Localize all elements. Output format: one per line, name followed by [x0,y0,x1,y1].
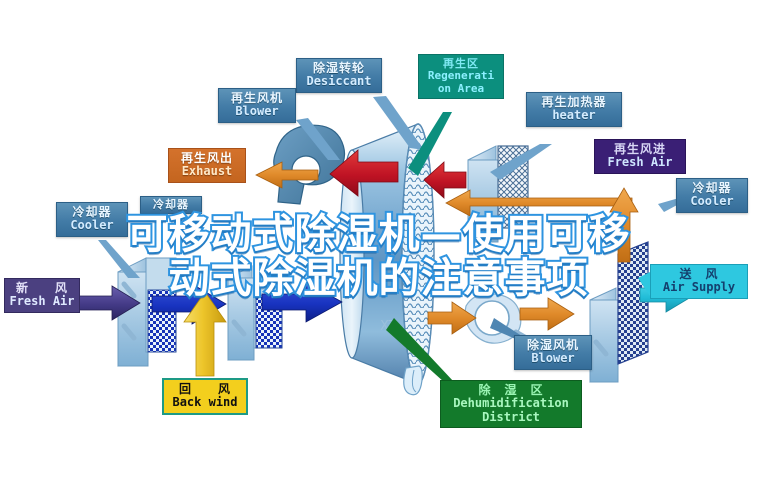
label-regeneration-blower-cn: 再生风机 [223,92,291,105]
label-back-wind-cn: 回 风 [168,383,242,396]
label-fresh-air: 新 风 Fresh Air [4,278,80,313]
label-cooler-left-1: 冷却器 Cooler [56,202,128,237]
label-regeneration-fresh-air: 再生风进 Fresh Air [594,139,686,174]
label-regeneration-heater: 再生加热器 heater [526,92,622,127]
label-desiccant: 除湿转轮 Desiccant [296,58,382,93]
label-dehumidification-district-en1: Dehumidification [445,397,577,410]
label-cooler-right: 冷却器 Cooler [676,178,748,213]
label-regeneration-blower-en: Blower [223,105,291,118]
regeneration-blower [274,125,345,204]
label-desiccant-cn: 除湿转轮 [301,62,377,75]
label-dehumidification-blower: 除湿风机 Blower [514,335,592,370]
label-air-supply-en: Air Supply [655,281,743,294]
label-desiccant-en: Desiccant [301,75,377,88]
cooler-module-left-2 [228,266,282,360]
label-regeneration-area: 再生区 Regenerati on Area [418,54,504,99]
label-fresh-air-cn: 新 风 [9,282,75,295]
label-regeneration-heater-en: heater [531,109,617,122]
label-back-wind: 回 风 Back wind [162,378,248,415]
label-dehumidification-blower-cn: 除湿风机 [519,339,587,352]
label-regeneration-fresh-air-cn: 再生风进 [599,143,681,156]
label-back-wind-en: Back wind [168,396,242,409]
label-regeneration-heater-cn: 再生加热器 [531,96,617,109]
label-cooler-left-1-cn: 冷却器 [61,206,123,219]
label-dehumidification-district-cn: 除 湿 区 [445,384,577,397]
label-regeneration-area-en2: on Area [422,83,500,95]
label-cooler-left-1-en: Cooler [61,219,123,232]
label-cooler-left-2: 冷却器 [140,196,202,214]
label-cooler-right-en: Cooler [681,195,743,208]
label-cooler-left-2-cn: 冷却器 [144,199,198,211]
label-regeneration-exhaust: 再生风出 Exhaust [168,148,246,183]
label-fresh-air-en: Fresh Air [9,295,75,308]
arrow-dry-air-2 [520,298,574,330]
label-air-supply: 送 风 Air Supply [650,264,748,299]
label-regeneration-exhaust-cn: 再生风出 [173,152,241,165]
label-air-supply-cn: 送 风 [655,268,743,281]
label-regeneration-fresh-air-en: Fresh Air [599,156,681,169]
dehumidifier-diagram: XT [0,0,757,488]
cooler-module-right [590,242,648,382]
label-regeneration-area-en1: Regenerati [422,70,500,82]
label-regeneration-blower: 再生风机 Blower [218,88,296,123]
label-regeneration-exhaust-en: Exhaust [173,165,241,178]
label-cooler-right-cn: 冷却器 [681,182,743,195]
label-dehumidification-district: 除 湿 区 Dehumidification District [440,380,582,428]
label-dehumidification-blower-en: Blower [519,352,587,365]
label-dehumidification-district-en2: District [445,411,577,424]
